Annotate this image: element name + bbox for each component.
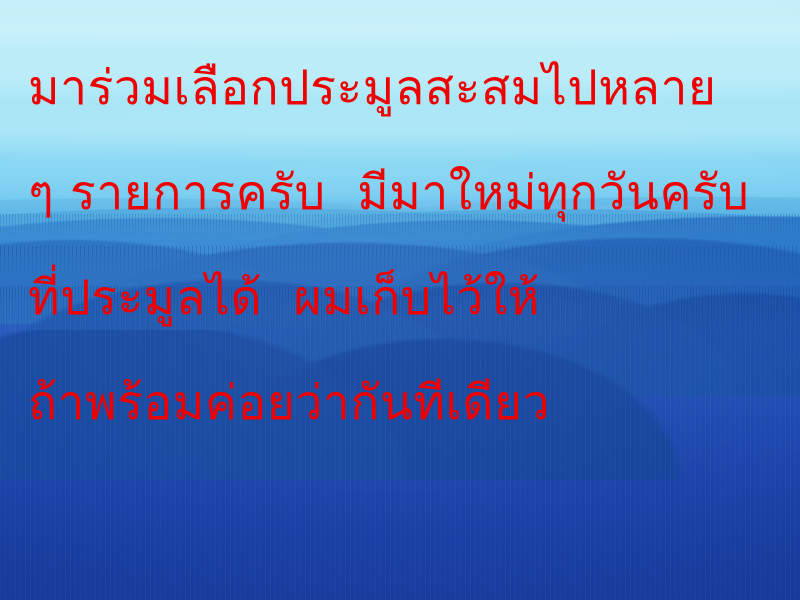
caption-line-1: มาร่วมเลือกประมูลสะสมไปหลาย bbox=[28, 36, 776, 141]
caption-line-2: ๆ รายการครับ มีมาใหม่ทุกวันครับ bbox=[28, 141, 776, 246]
caption-line-4: ถ้าพร้อมค่อยว่ากันทีเดียว bbox=[28, 351, 776, 456]
caption-overlay: มาร่วมเลือกประมูลสะสมไปหลาย ๆ รายการครับ… bbox=[0, 0, 800, 600]
banner-image: มาร่วมเลือกประมูลสะสมไปหลาย ๆ รายการครับ… bbox=[0, 0, 800, 600]
caption-line-3: ที่ประมูลได้ ผมเก็บไว้ให้ bbox=[28, 246, 776, 351]
